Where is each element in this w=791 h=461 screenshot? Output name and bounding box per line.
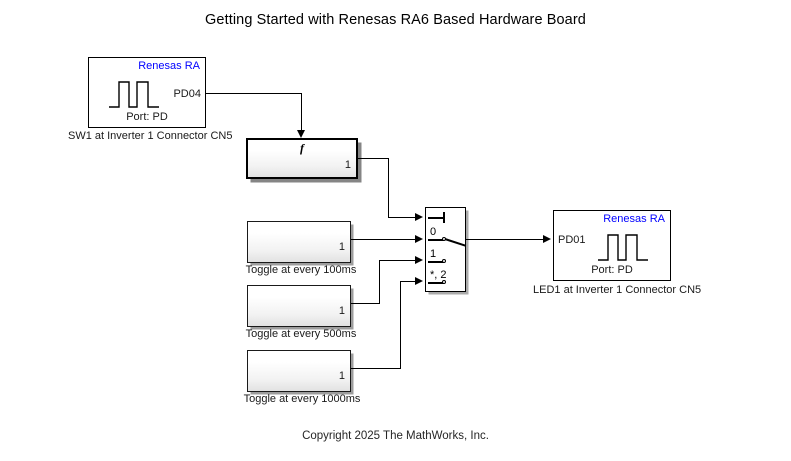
switch-blade bbox=[445, 238, 466, 246]
wire-sw1-to-fcn-vertical bbox=[301, 93, 302, 131]
wire-toggle1000-v bbox=[400, 281, 401, 369]
wire-arrow-into-led1 bbox=[543, 235, 551, 243]
model-canvas: Getting Started with Renesas RA6 Based H… bbox=[0, 0, 791, 461]
page-title: Getting Started with Renesas RA6 Based H… bbox=[0, 12, 791, 28]
led1-port-caption: Port: PD bbox=[554, 264, 670, 276]
fcn-output-port-number: 1 bbox=[345, 159, 351, 171]
sw1-output-port-label: PD04 bbox=[173, 88, 201, 100]
block-caption-sw1: SW1 at Inverter 1 Connector CN5 bbox=[68, 130, 226, 142]
square-wave-icon bbox=[107, 76, 167, 112]
wire-fcn-out-h2 bbox=[388, 217, 418, 218]
block-toggle-500ms[interactable]: 1 bbox=[247, 285, 351, 327]
wire-toggle500-h2 bbox=[379, 260, 418, 261]
switch-contact-dot-2 bbox=[442, 280, 446, 284]
block-toggle-1000ms[interactable]: 1 bbox=[247, 350, 351, 392]
wire-sw1-to-fcn-horizontal bbox=[206, 93, 302, 94]
switch-control-stub-v bbox=[443, 212, 445, 223]
wire-arrow-into-fcn bbox=[297, 130, 305, 138]
block-multiport-switch[interactable]: 0 1 *, 2 bbox=[425, 207, 466, 292]
block-caption-toggle-500ms: Toggle at every 500ms bbox=[245, 328, 357, 340]
block-caption-toggle-100ms: Toggle at every 100ms bbox=[245, 264, 357, 276]
renesas-ra-brand-label-led1: Renesas RA bbox=[603, 213, 665, 225]
wire-toggle500-h1 bbox=[351, 303, 380, 304]
wire-arrow-switch-in-1 bbox=[415, 256, 423, 264]
copyright-notice: Copyright 2025 The MathWorks, Inc. bbox=[0, 430, 791, 442]
wire-toggle500-v bbox=[379, 260, 380, 304]
led1-input-port-label: PD01 bbox=[558, 234, 586, 246]
switch-contact-dot-1 bbox=[442, 259, 446, 263]
function-call-icon: f bbox=[248, 141, 356, 156]
sw1-port-caption: Port: PD bbox=[89, 111, 205, 123]
switch-input-label-0: 0 bbox=[430, 227, 436, 238]
block-toggle-100ms[interactable]: 1 bbox=[247, 221, 351, 263]
wire-fcn-out-v bbox=[388, 158, 389, 218]
toggle-500ms-output-port-number: 1 bbox=[339, 305, 345, 317]
wire-arrow-switch-control bbox=[415, 213, 423, 221]
wire-arrow-switch-in-0 bbox=[415, 235, 423, 243]
block-function-call-subsystem[interactable]: f 1 bbox=[246, 138, 358, 179]
square-wave-icon-led1 bbox=[596, 229, 656, 265]
block-led1-digital-output[interactable]: Renesas RA PD01 Port: PD bbox=[553, 210, 671, 281]
block-caption-toggle-1000ms: Toggle at every 1000ms bbox=[242, 393, 362, 405]
toggle-1000ms-output-port-number: 1 bbox=[339, 370, 345, 382]
wire-switch-to-led1 bbox=[466, 239, 545, 240]
switch-input-label-1: 1 bbox=[430, 249, 436, 260]
wire-arrow-switch-in-2 bbox=[415, 277, 423, 285]
wire-fcn-out-h1 bbox=[358, 158, 389, 159]
wire-toggle1000-h1 bbox=[351, 368, 401, 369]
toggle-100ms-output-port-number: 1 bbox=[339, 241, 345, 253]
wire-toggle100-to-switch bbox=[351, 239, 418, 240]
block-caption-led1: LED1 at Inverter 1 Connector CN5 bbox=[533, 284, 691, 296]
renesas-ra-brand-label: Renesas RA bbox=[138, 60, 200, 72]
block-sw1-digital-input[interactable]: Renesas RA PD04 Port: PD bbox=[88, 57, 206, 128]
